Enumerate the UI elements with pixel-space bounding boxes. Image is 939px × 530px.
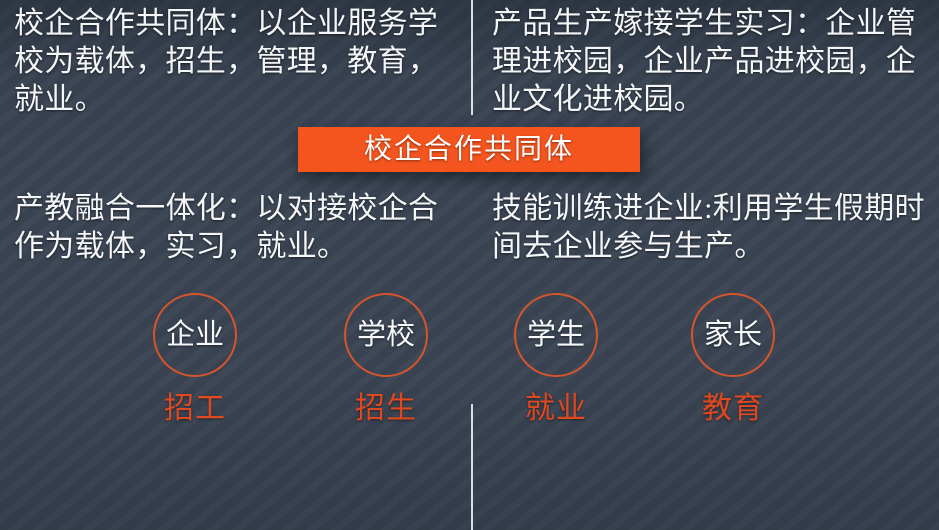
text-block-top-right: 产品生产嫁接学生实习：企业管理进校园，企业产品进校园，企业文化进校园。 — [492, 5, 934, 119]
node-caption-employment: 就业 — [496, 391, 616, 427]
node-circle-label: 企业 — [166, 321, 224, 350]
node-caption-recruit-workers: 招工 — [135, 391, 255, 427]
node-circle-label: 家长 — [704, 321, 762, 350]
node-circle-school: 学校 — [344, 293, 428, 377]
node-caption-recruit-students: 招生 — [326, 391, 446, 427]
node-circle-parent: 家长 — [691, 293, 775, 377]
text-block-top-left: 校企合作共同体：以企业服务学校为载体，招生，管理，教育，就业。 — [14, 5, 454, 119]
vertical-divider-bottom — [471, 404, 473, 530]
slide-canvas: 校企合作共同体：以企业服务学校为载体，招生，管理，教育，就业。 产品生产嫁接学生… — [0, 0, 939, 530]
center-banner-label: 校企合作共同体 — [364, 136, 574, 164]
node-circle-student: 学生 — [514, 293, 598, 377]
node-caption-education: 教育 — [673, 391, 793, 427]
center-banner: 校企合作共同体 — [298, 127, 640, 172]
node-circle-label: 学生 — [527, 321, 585, 350]
vertical-divider-top — [471, 0, 473, 115]
node-circle-label: 学校 — [357, 321, 415, 350]
node-circle-enterprise: 企业 — [153, 293, 237, 377]
text-block-bottom-right: 技能训练进企业:利用学生假期时间去企业参与生产。 — [492, 190, 934, 266]
text-block-bottom-left: 产教融合一体化：以对接校企合作为载体，实习，就业。 — [14, 190, 454, 266]
